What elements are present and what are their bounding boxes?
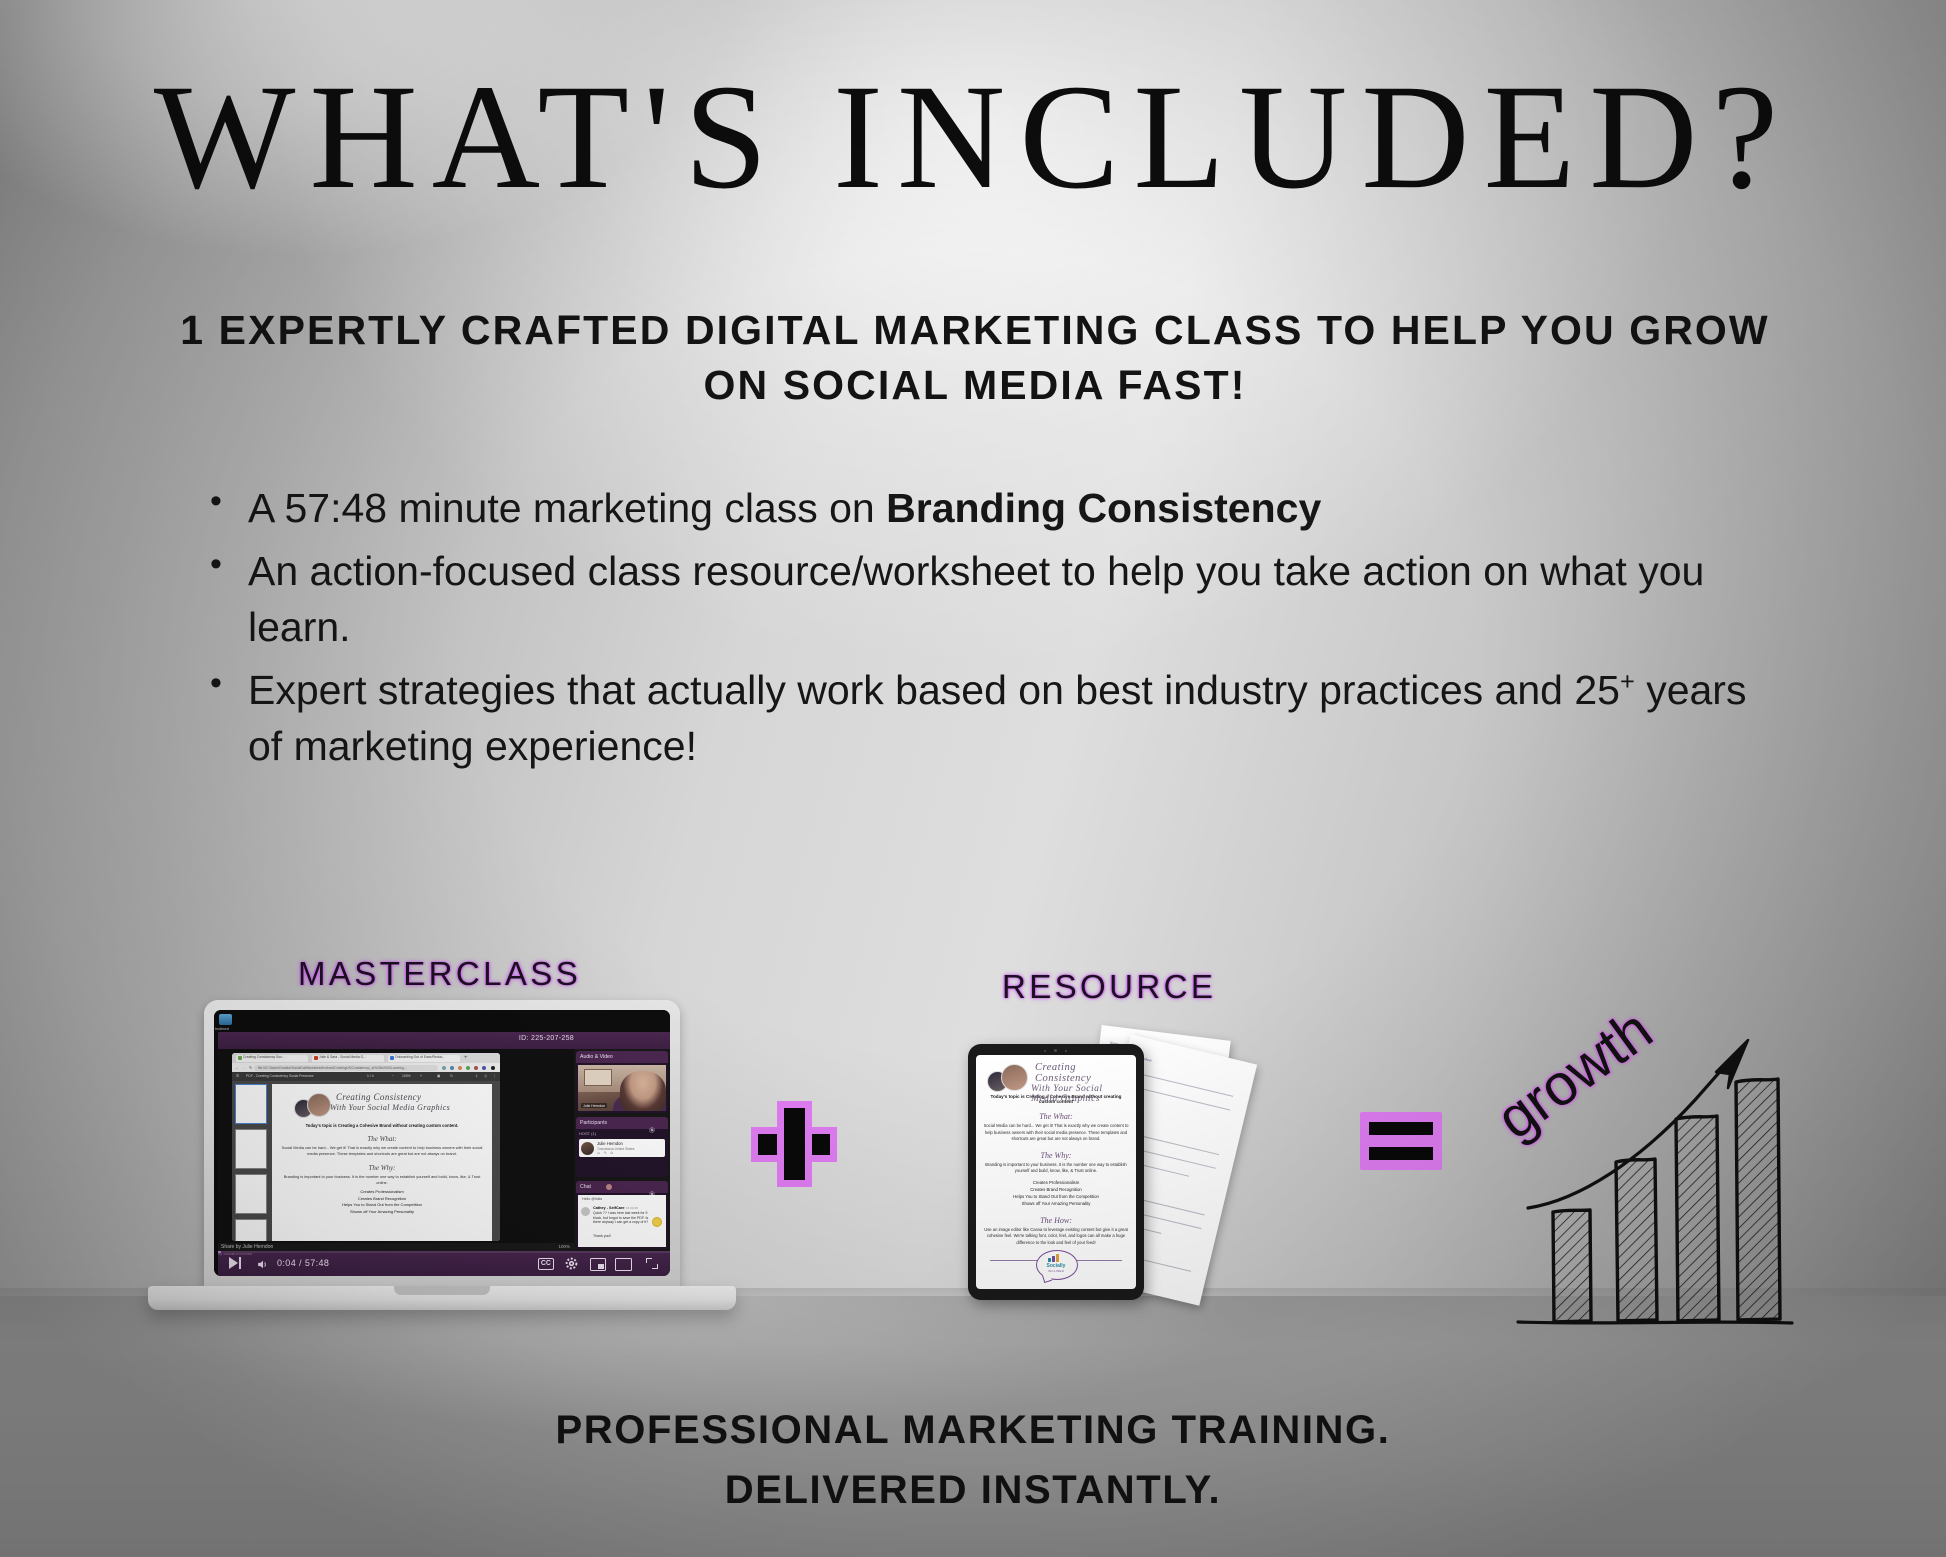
- shared-screen-area: Creating Consistency Soc... Julie & Sara…: [218, 1049, 574, 1251]
- bullet-superscript: +: [1620, 667, 1635, 695]
- volume-icon[interactable]: [256, 1258, 269, 1276]
- download-icon[interactable]: ⇩: [475, 1074, 478, 1078]
- laptop-screen: Inclined ID: 225-207-258 Creating Consis…: [214, 1010, 670, 1276]
- address-bar[interactable]: file:///C:/Users/Creative/SocialOut/Work…: [254, 1065, 438, 1071]
- tab-favicon-icon: [238, 1056, 242, 1060]
- share-owner: Share by Julie Herndon: [221, 1244, 273, 1250]
- page-title: WHAT'S INCLUDED?: [0, 62, 1946, 212]
- tab-favicon-icon: [390, 1056, 394, 1060]
- play-icon[interactable]: [229, 1257, 238, 1269]
- desktop-file-label: Inclined: [215, 1026, 229, 1031]
- slide-section-why: The Why:: [280, 1164, 484, 1172]
- meeting-id: ID: 225-207-258: [519, 1035, 574, 1042]
- meeting-titlebar: ID: 225-207-258: [218, 1032, 670, 1049]
- tab-title: Creating Consistency Soc...: [243, 1055, 285, 1059]
- pdf-toolbar: ☰ PDF - Creating Consistency Social Pres…: [232, 1072, 500, 1081]
- panel-audio-video: Audio & Video Julie Herndon: [576, 1051, 668, 1113]
- footer-line-2: DELIVERED INSTANTLY.: [0, 1460, 1946, 1520]
- minimize-icon[interactable]: [658, 1184, 664, 1190]
- tab-title: Onboarding Out of Ease/Reduc...: [395, 1055, 445, 1059]
- benefit-item: Helps You to Stand Out from the Competit…: [983, 1193, 1129, 1200]
- fullscreen-icon[interactable]: [646, 1258, 658, 1269]
- participant-location: Tuscaloosa United States: [597, 1147, 634, 1151]
- fit-page-icon[interactable]: ▣: [437, 1074, 440, 1078]
- avatar: [581, 1207, 590, 1216]
- share-status-strip: Share by Julie Herndon 100%: [218, 1243, 574, 1251]
- extension-icon[interactable]: [474, 1066, 478, 1070]
- desktop-background: Inclined ID: 225-207-258 Creating Consis…: [214, 1010, 670, 1276]
- emoji-reaction-icon[interactable]: [652, 1217, 662, 1227]
- gear-icon[interactable]: [649, 1184, 655, 1190]
- tab-favicon-icon: [314, 1056, 318, 1060]
- back-icon[interactable]: ←: [235, 1065, 239, 1070]
- bullet-text: Expert strategies that actually work bas…: [248, 667, 1620, 713]
- chat-timestamp: 15:03:28: [626, 1206, 638, 1210]
- address-value: file:///C:/Users/Creative/SocialOut/Work…: [258, 1066, 435, 1070]
- equals-top-bar: [1369, 1122, 1433, 1135]
- chat-message-text: Quick ?? I was here last week for 9 bloc…: [593, 1211, 656, 1225]
- participant-status-icons: ▭ ✎ ⊙: [597, 1151, 614, 1155]
- worksheet-section-how: The How:: [983, 1216, 1129, 1225]
- video-name-tag: Julie Herndon: [581, 1103, 607, 1108]
- worksheet-section-what: The What:: [983, 1112, 1129, 1121]
- panel-chat: Chat Hello @folks Cathey - SelfCar: [576, 1181, 668, 1249]
- footer-tagline: PROFESSIONAL MARKETING TRAINING. DELIVER…: [0, 1400, 1946, 1520]
- bullet-emphasis: Branding Consistency: [886, 485, 1321, 531]
- panel-header: Audio & Video: [576, 1051, 668, 1063]
- worksheet-why-body: Branding is important to your business. …: [983, 1162, 1129, 1175]
- participants-host-label: HOST (1): [579, 1131, 596, 1136]
- speaker-head: [620, 1071, 666, 1111]
- rotate-icon[interactable]: ↻: [450, 1074, 453, 1078]
- minimize-icon[interactable]: [658, 1054, 664, 1060]
- logo-subtitle: INCLINED: [1036, 1269, 1076, 1273]
- poster-canvas: WHAT'S INCLUDED? 1 EXPERTLY CRAFTED DIGI…: [0, 0, 1946, 1557]
- masterclass-label: MASTERCLASS: [298, 955, 581, 993]
- tablet-screen: Creating Consistency With Your Social Me…: [976, 1055, 1136, 1289]
- video-player-controls: 0:04 / 57:48 CC by SocialOnScreen: [218, 1251, 670, 1276]
- gear-icon[interactable]: [649, 1120, 655, 1126]
- slide-section-what: The What:: [280, 1135, 484, 1143]
- forward-icon[interactable]: →: [242, 1065, 246, 1070]
- pdf-thumbnail[interactable]: [235, 1129, 267, 1169]
- closed-captions-icon[interactable]: CC: [538, 1258, 554, 1270]
- footer-line-1: PROFESSIONAL MARKETING TRAINING.: [0, 1400, 1946, 1460]
- new-tab-button[interactable]: +: [464, 1055, 468, 1061]
- list-item: Expert strategies that actually work bas…: [196, 662, 1766, 775]
- page-subtitle: 1 EXPERTLY CRAFTED DIGITAL MARKETING CLA…: [170, 303, 1780, 413]
- worksheet-section-why: The Why:: [983, 1151, 1129, 1160]
- participant-row[interactable]: Julie Herndon Tuscaloosa United States ▭…: [579, 1139, 665, 1157]
- bullet-text: A 57:48 minute marketing class on: [248, 485, 886, 531]
- avatar: [581, 1142, 594, 1155]
- benefit-item: Creates Brand Recognition: [983, 1186, 1129, 1193]
- slide-title-line1: Creating Consistency: [336, 1092, 450, 1103]
- avatar: [307, 1093, 331, 1117]
- resource-label: RESOURCE: [1002, 968, 1216, 1006]
- chat-messages: Hello @folks Cathey - SelfCare 15:03:28 …: [578, 1195, 666, 1247]
- fullscreen-corner: [646, 1258, 652, 1263]
- logo-bar: [1052, 1256, 1055, 1262]
- brand-logo: Socially INCLINED: [1036, 1250, 1076, 1283]
- time-display: 0:04 / 57:48: [277, 1258, 329, 1268]
- slide-what-body: Social Media can be hard... We get it! T…: [280, 1145, 484, 1157]
- panel-header: Chat: [576, 1181, 668, 1193]
- slide-topic: Today's topic is Creating a Cohesive Bra…: [280, 1123, 484, 1128]
- worksheet-title-line1: Creating Consistency: [1035, 1062, 1129, 1084]
- pdf-thumbnail[interactable]: [235, 1219, 267, 1241]
- progress-fill: [218, 1251, 221, 1253]
- logo-bar: [1056, 1254, 1059, 1262]
- chart-bar: [1616, 1159, 1657, 1321]
- worksheet-how-body: Use an image editor like Canva to levera…: [983, 1227, 1129, 1247]
- avatar: [1001, 1064, 1028, 1091]
- progress-bar[interactable]: [218, 1251, 670, 1253]
- pip-inset: [598, 1264, 604, 1269]
- slide-why-body: Branding is important to your business. …: [280, 1174, 484, 1186]
- pdf-viewer: Creating Consistency With Your Social Me…: [232, 1081, 500, 1241]
- tablet-mockup-group: Notes _________________ ________________…: [960, 1020, 1260, 1340]
- extension-icon[interactable]: [482, 1066, 486, 1070]
- tablet-device: Creating Consistency With Your Social Me…: [968, 1044, 1144, 1300]
- plus-vertical-bar: [784, 1108, 805, 1180]
- participant-name: Julie Herndon: [597, 1141, 623, 1146]
- fullscreen-corner: [652, 1264, 658, 1269]
- browser-window: Creating Consistency Soc... Julie & Sara…: [232, 1053, 500, 1241]
- pdf-thumbnail[interactable]: [235, 1084, 267, 1124]
- list-item: A 57:48 minute marketing class on Brandi…: [196, 480, 1766, 537]
- chart-bars: [1553, 1079, 1780, 1322]
- browser-toolbar: ← → ↻ file:///C:/Users/Creative/SocialOu…: [232, 1063, 500, 1072]
- zoom-out-icon[interactable]: −: [392, 1074, 394, 1078]
- panel-participants: Participants HOST (1) Julie Herndon T: [576, 1117, 668, 1177]
- panel-title: Participants: [580, 1120, 607, 1126]
- chat-avatar-icon: [606, 1184, 612, 1190]
- play-icon-bar: [239, 1257, 241, 1269]
- camera-dot: [1065, 1050, 1067, 1052]
- browser-tab[interactable]: Onboarding Out of Ease/Reduc...: [388, 1055, 460, 1062]
- print-icon[interactable]: ⎙: [484, 1074, 487, 1078]
- laptop-notch: [394, 1286, 490, 1295]
- pdf-thumbnail[interactable]: [235, 1174, 267, 1214]
- browser-tab[interactable]: Julie & Sara - Social Media G...: [312, 1055, 384, 1062]
- worksheet-benefits: Creates Professionalism Creates Brand Re…: [983, 1179, 1129, 1208]
- reload-icon[interactable]: ↻: [249, 1065, 252, 1070]
- pdf-page-indicator: 1 / 4: [367, 1074, 374, 1078]
- meeting-sidebar: Audio & Video Julie Herndon: [574, 1049, 670, 1251]
- extension-icon[interactable]: [450, 1066, 454, 1070]
- pdf-zoom-level: 100%: [402, 1074, 411, 1078]
- picture-in-picture-icon[interactable]: [590, 1258, 606, 1271]
- extension-icon[interactable]: [442, 1066, 446, 1070]
- bullet-text: An action-focused class resource/workshe…: [248, 548, 1704, 651]
- video-feed: Julie Herndon: [578, 1065, 666, 1111]
- camera-dot: [1044, 1050, 1046, 1052]
- meeting-app-window: ID: 225-207-258 Creating Consistency Soc…: [218, 1032, 670, 1276]
- list-item: An action-focused class resource/workshe…: [196, 543, 1766, 656]
- chart-bar: [1736, 1079, 1780, 1320]
- extension-icon[interactable]: [466, 1066, 470, 1070]
- camera-lens: [1054, 1049, 1057, 1052]
- pdf-document-title: PDF - Creating Consistency Social Presen…: [246, 1074, 313, 1078]
- chat-thanks-text: Thank you!!: [593, 1234, 611, 1238]
- chart-bar: [1553, 1210, 1591, 1322]
- slide-header: Creating Consistency With Your Social Me…: [280, 1090, 484, 1120]
- pdf-thumbnail-rail[interactable]: [235, 1084, 265, 1238]
- benefit-item: Shows off Your Amazing Personality: [983, 1200, 1129, 1207]
- chat-sender: Cathey - SelfCare: [593, 1206, 624, 1210]
- logo-bar: [1048, 1258, 1051, 1262]
- chat-recipient: Hello @folks: [582, 1197, 602, 1201]
- panel-title: Audio & Video: [580, 1054, 613, 1060]
- chart-bar: [1676, 1116, 1719, 1321]
- plus-sign-icon: [746, 1096, 842, 1192]
- minimize-icon[interactable]: [658, 1120, 664, 1126]
- benefit-item: Shows off Your Amazing Personality: [280, 1209, 484, 1215]
- pdf-page-content: Creating Consistency With Your Social Me…: [272, 1084, 492, 1241]
- benefit-item: Creates Professionalism: [983, 1179, 1129, 1186]
- panel-header: Participants: [576, 1117, 668, 1129]
- feature-list: A 57:48 minute marketing class on Brandi…: [196, 480, 1766, 781]
- gear-icon[interactable]: [565, 1257, 578, 1275]
- equals-bottom-bar: [1369, 1147, 1433, 1160]
- slide-title: Creating Consistency With Your Social Me…: [336, 1092, 450, 1113]
- slide-title-line2: With Your Social Media Graphics: [330, 1103, 450, 1113]
- worksheet-title: Creating Consistency With Your Social Me…: [1035, 1062, 1129, 1104]
- profile-avatar[interactable]: [491, 1066, 495, 1070]
- paper-rule: [1132, 1072, 1233, 1097]
- pdf-menu-icon[interactable]: ☰: [236, 1074, 239, 1078]
- slide-benefits: Creates Professionalism Creates Brand Re…: [280, 1189, 484, 1215]
- tablet-camera-icon: [1044, 1049, 1068, 1052]
- share-zoom-level: 100%: [558, 1244, 570, 1249]
- panel-title: Chat: [580, 1184, 591, 1190]
- theater-mode-icon[interactable]: [615, 1258, 632, 1271]
- equals-sign-icon: [1360, 1112, 1442, 1170]
- tab-title: Julie & Sara - Social Media G...: [319, 1055, 366, 1059]
- extension-icon[interactable]: [458, 1066, 462, 1070]
- logo-bars-icon: [1048, 1254, 1063, 1262]
- worksheet-header: Creating Consistency With Your Social Me…: [983, 1060, 1129, 1090]
- desktop-file-icon[interactable]: [219, 1014, 232, 1025]
- browser-tab[interactable]: Creating Consistency Soc...: [236, 1055, 308, 1062]
- wall-art: [584, 1069, 612, 1086]
- laptop-mockup: Inclined ID: 225-207-258 Creating Consis…: [148, 1000, 736, 1330]
- browser-tabstrip: Creating Consistency Soc... Julie & Sara…: [232, 1053, 500, 1063]
- worksheet-what-body: Social Media can be hard... We get it! T…: [983, 1123, 1129, 1143]
- growth-chart: growth: [1480, 1000, 1820, 1340]
- worksheet-title-line2: With Your Social Media Graphics: [1031, 1084, 1129, 1104]
- zoom-in-icon[interactable]: +: [420, 1074, 422, 1078]
- more-options-icon[interactable]: ⋮: [493, 1074, 496, 1078]
